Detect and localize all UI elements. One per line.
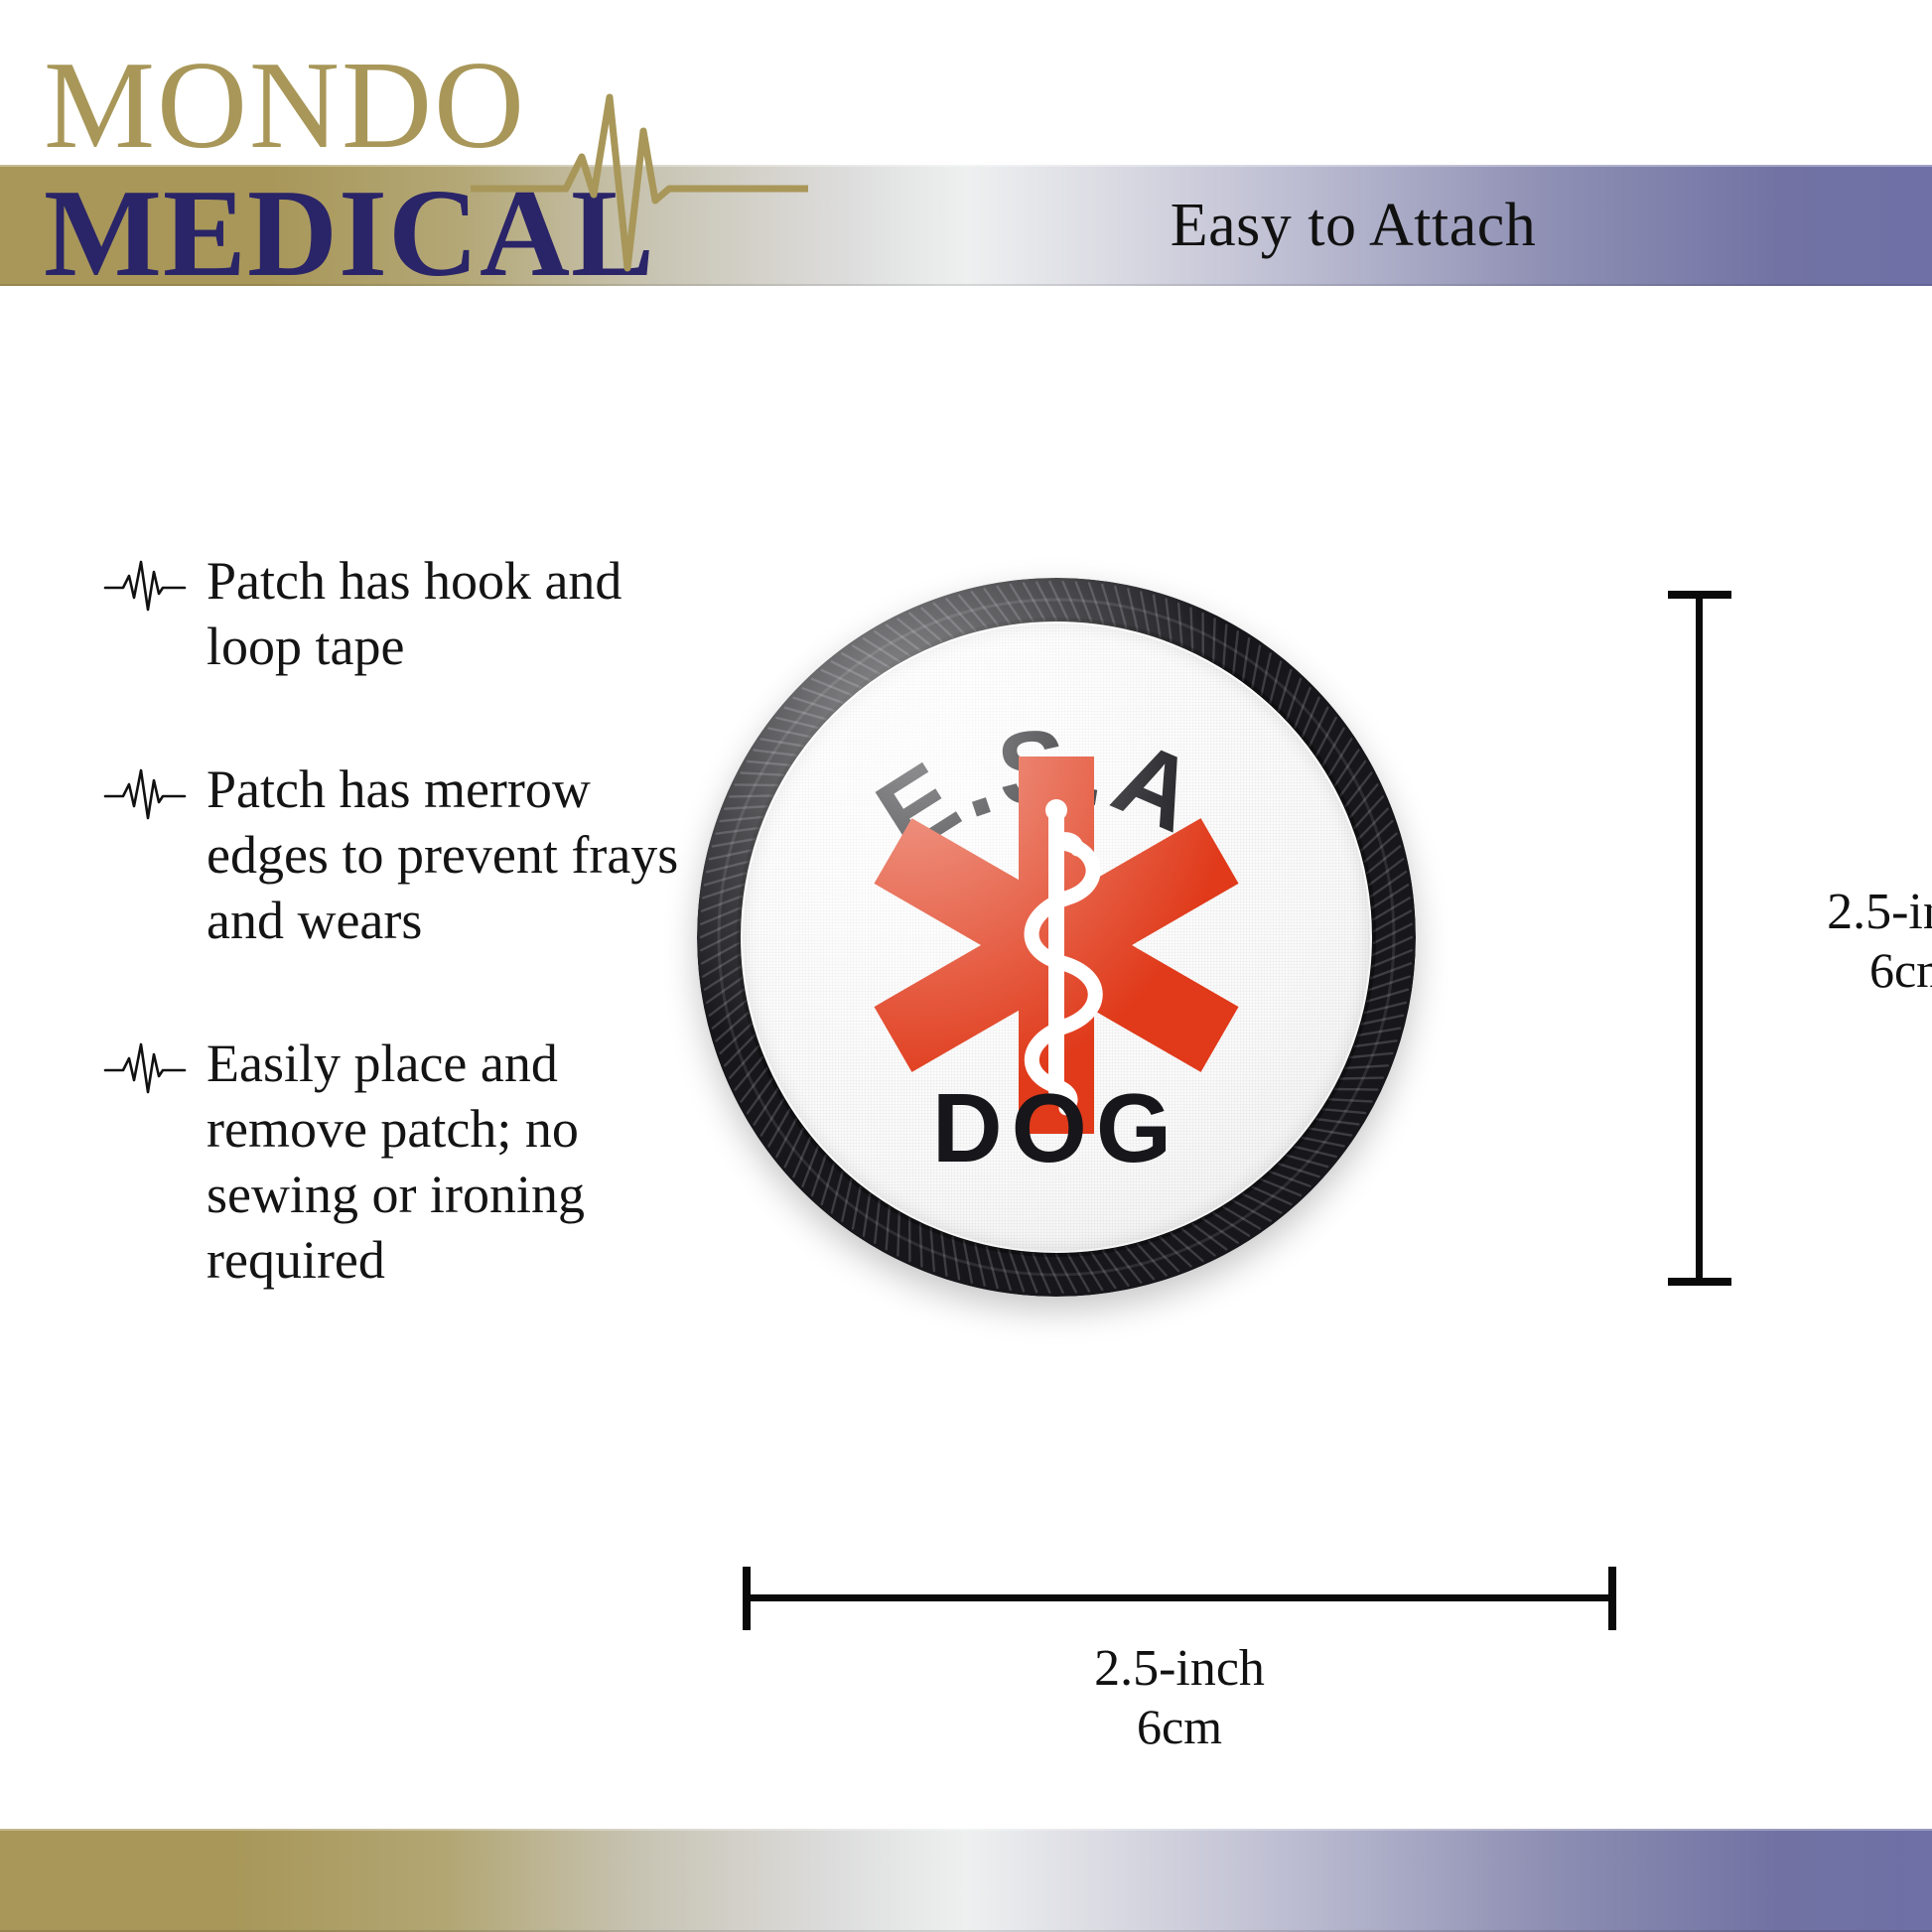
dimension-height-label: 2.5-inch 6cm [1753,884,1932,999]
dimension-width: 2.5-inch 6cm [743,1549,1616,1688]
brand-logo: MONDO MEDICAL [44,44,778,292]
header-tagline: Easy to Attach [774,165,1932,286]
dimension-cap-bottom [1668,1278,1731,1286]
dimension-height: 2.5-inch 6cm [1668,591,1797,1286]
patch-body: E.S.A. [697,578,1416,1297]
product-patch-image: E.S.A. [697,578,1416,1297]
ekg-heartbeat-icon [103,558,187,614]
dimension-height-metric: 6cm [1753,941,1932,999]
ekg-heartbeat-icon [103,1040,187,1096]
dimension-cap-right [1608,1567,1616,1630]
feature-item-merrow-edges: Patch has merrow edges to prevent frays … [103,757,699,953]
brand-name-line2: MEDICAL [44,169,655,300]
feature-item-no-sewing: Easily place and remove patch; no sewing… [103,1031,699,1293]
feature-item-label: Patch has hook and loop tape [207,548,699,679]
footer-gradient-banner [0,1829,1932,1932]
ekg-heartbeat-icon [103,766,187,822]
feature-item-hook-and-loop: Patch has hook and loop tape [103,548,699,679]
dimension-height-imperial: 2.5-inch [1827,884,1932,940]
dimension-width-imperial: 2.5-inch [1094,1640,1265,1697]
dimension-line-vertical [1696,591,1703,1286]
patch-merrow-border [697,578,1416,1297]
dimension-width-label: 2.5-inch 6cm [743,1640,1616,1755]
brand-name-line1: MONDO [44,44,526,169]
dimension-line-horizontal [743,1594,1616,1601]
feature-item-label: Easily place and remove patch; no sewing… [207,1031,699,1293]
feature-item-label: Patch has merrow edges to prevent frays … [207,757,699,953]
feature-list: Patch has hook and loop tape Patch has m… [103,548,699,1370]
dimension-width-metric: 6cm [743,1698,1616,1755]
